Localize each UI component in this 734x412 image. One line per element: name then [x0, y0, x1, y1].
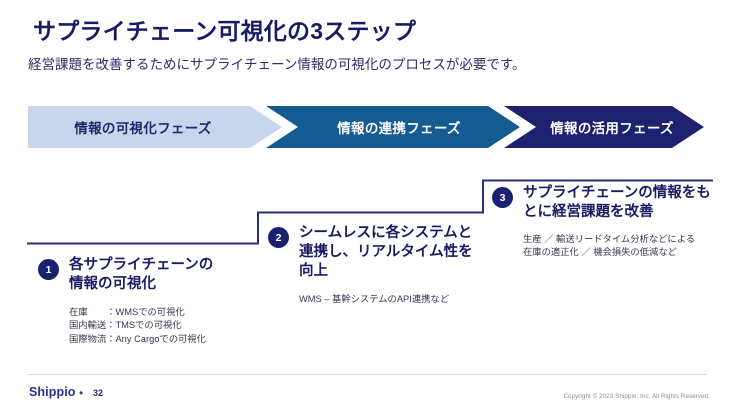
step-item-3: 3 サプライチェーンの情報をも とに経営課題を改善 生産 ／ 輸送リードタイム分…: [492, 184, 714, 260]
phase-chevron-band: 情報の可視化フェーズ 情報の連携フェーズ 情報の活用フェーズ: [0, 106, 734, 150]
footer-divider: [28, 374, 707, 375]
step-header: 2 シームレスに各システムと 連携し、リアルタイム性を 向上: [268, 224, 480, 281]
shippio-logo: Shippio: [29, 385, 76, 399]
step-number-badge: 1: [38, 259, 59, 280]
step-title: 各サプライチェーンの 情報の可視化: [69, 256, 213, 294]
step-title: シームレスに各システムと 連携し、リアルタイム性を 向上: [299, 224, 473, 281]
page-subtitle: 経営課題を改善するためにサプライチェーン情報の可視化のプロセスが必要です。: [28, 53, 525, 73]
phase-chevron-label: 情報の活用フェーズ: [550, 117, 674, 137]
step-detail: WMS – 基幹システムのAPI連携など: [299, 293, 480, 306]
slide-canvas: サプライチェーン可視化の3ステップ 経営課題を改善するためにサプライチェーン情報…: [0, 0, 734, 412]
phase-chevron-label: 情報の連携フェーズ: [337, 117, 461, 137]
page-title: サプライチェーン可視化の3ステップ: [33, 12, 416, 46]
step-number-badge: 3: [492, 187, 513, 208]
footer-separator-dot: •: [79, 386, 83, 400]
step-detail: 生産 ／ 輸送リードタイム分析などによる 在庫の適正化 ／ 機会損失の低減など: [523, 233, 714, 260]
phase-chevron-visualization[interactable]: 情報の可視化フェーズ: [28, 106, 282, 148]
step-number-badge: 2: [268, 227, 289, 248]
phase-chevron-utilization[interactable]: 情報の活用フェーズ: [504, 106, 704, 148]
step-header: 3 サプライチェーンの情報をも とに経営課題を改善: [492, 184, 714, 222]
step-title: サプライチェーンの情報をも とに経営課題を改善: [523, 184, 711, 222]
phase-chevron-label: 情報の可視化フェーズ: [74, 117, 211, 137]
step-detail: 在庫 ：WMSでの可視化 国内輸送：TMSでの可視化 国際物流：Any Carg…: [69, 306, 253, 346]
step-header: 1 各サプライチェーンの 情報の可視化: [38, 256, 253, 294]
step-item-2: 2 シームレスに各システムと 連携し、リアルタイム性を 向上 WMS – 基幹シ…: [268, 224, 480, 306]
copyright-notice: Copyright © 2023 Shippio, Inc. All Right…: [563, 393, 710, 400]
phase-chevron-integration[interactable]: 情報の連携フェーズ: [266, 106, 520, 148]
step-item-1: 1 各サプライチェーンの 情報の可視化 在庫 ：WMSでの可視化 国内輸送：TM…: [38, 256, 253, 346]
page-number: 32: [93, 388, 103, 398]
